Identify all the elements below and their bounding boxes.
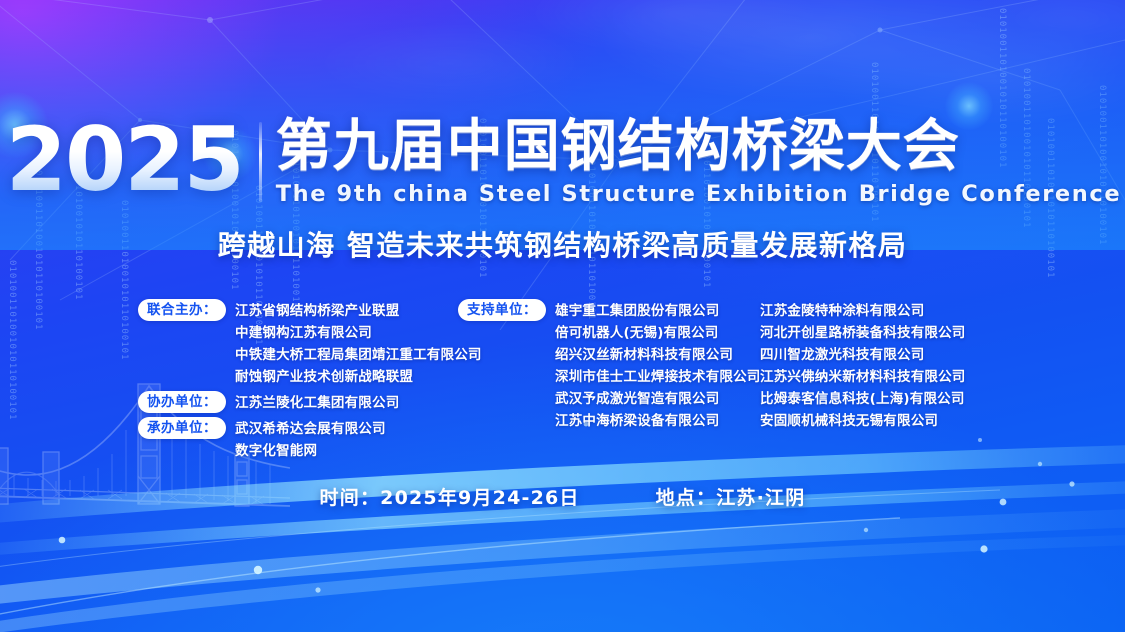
list-item: 安固顺机械科技无锡有限公司	[758, 410, 993, 432]
list-item: 江苏金陵特种涂料有限公司	[758, 300, 993, 322]
event-meta: 时间：2025年9月24-26日 地点：江苏·江阴	[0, 483, 1125, 510]
organizer-group: 协办单位： 江苏兰陵化工集团有限公司	[138, 391, 458, 414]
label-co-organizer: 协办单位：	[138, 391, 226, 413]
list-item: 中铁建大桥工程局集团靖江重工有限公司	[235, 344, 482, 366]
label-undertaker: 承办单位：	[138, 417, 226, 439]
year-2025: 2025	[4, 118, 245, 202]
page-title: 第九届中国钢结构桥梁大会	[276, 118, 1122, 176]
event-location: 地点：江苏·江阴	[656, 483, 806, 510]
title-divider	[259, 122, 262, 202]
list-item: 中建钢构江苏有限公司	[235, 322, 482, 344]
list-item: 江苏省钢结构桥梁产业联盟	[235, 300, 482, 322]
list-item: 江苏兰陵化工集团有限公司	[235, 392, 399, 414]
organizer-list: 武汉希希达会展有限公司 数字化智能网	[235, 417, 386, 462]
event-date: 时间：2025年9月24-26日	[320, 483, 580, 510]
list-item: 绍兴汉丝新材料科技有限公司	[555, 344, 761, 366]
organizer-group: 联合主办： 江苏省钢结构桥梁产业联盟 中建钢构江苏有限公司 中铁建大桥工程局集团…	[138, 299, 458, 388]
list-item: 武汉希希达会展有限公司	[235, 418, 386, 440]
label-supporter: 支持单位：	[458, 299, 546, 321]
list-item: 四川智龙激光科技有限公司	[758, 344, 993, 366]
organizer-list: 雄宇重工集团股份有限公司 倍可机器人(无锡)有限公司 绍兴汉丝新材料科技有限公司…	[555, 299, 761, 432]
list-item: 江苏兴佛纳米新材料科技有限公司	[758, 366, 993, 388]
organizer-list: 江苏金陵特种涂料有限公司 河北开创星路桥装备科技有限公司 四川智龙激光科技有限公…	[758, 299, 993, 432]
organizers-section: 联合主办： 江苏省钢结构桥梁产业联盟 中建钢构江苏有限公司 中铁建大桥工程局集团…	[0, 299, 1125, 465]
organizer-column-middle: 支持单位： 雄宇重工集团股份有限公司 倍可机器人(无锡)有限公司 绍兴汉丝新材料…	[458, 299, 758, 465]
list-item: 数字化智能网	[235, 440, 386, 462]
organizer-list: 江苏兰陵化工集团有限公司	[235, 391, 399, 414]
list-item: 比姆泰客信息科技(上海)有限公司	[758, 388, 993, 410]
organizer-list: 江苏省钢结构桥梁产业联盟 中建钢构江苏有限公司 中铁建大桥工程局集团靖江重工有限…	[235, 299, 482, 388]
page-subtitle-en: The 9th china Steel Structure Exhibition…	[276, 181, 1122, 207]
list-item: 深圳市佳士工业焊接技术有限公司	[555, 366, 761, 388]
list-item: 耐蚀钢产业技术创新战略联盟	[235, 366, 482, 388]
organizer-column-left: 联合主办： 江苏省钢结构桥梁产业联盟 中建钢构江苏有限公司 中铁建大桥工程局集团…	[132, 299, 458, 465]
organizer-column-right: 江苏金陵特种涂料有限公司 河北开创星路桥装备科技有限公司 四川智龙激光科技有限公…	[758, 299, 993, 465]
conference-banner: 0101001101001010110100101 01010011010010…	[0, 0, 1125, 632]
title-stack: 第九届中国钢结构桥梁大会 The 9th china Steel Structu…	[276, 118, 1122, 207]
organizer-group: 支持单位： 雄宇重工集团股份有限公司 倍可机器人(无锡)有限公司 绍兴汉丝新材料…	[458, 299, 758, 432]
list-item: 江苏中海桥梁设备有限公司	[555, 410, 761, 432]
list-item: 雄宇重工集团股份有限公司	[555, 300, 761, 322]
list-item: 倍可机器人(无锡)有限公司	[555, 322, 761, 344]
slogan: 跨越山海 智造未来共筑钢结构桥梁高质量发展新格局	[218, 224, 908, 264]
label-co-host: 联合主办：	[138, 299, 226, 321]
list-item: 河北开创星路桥装备科技有限公司	[758, 322, 993, 344]
header-block: 2025 第九届中国钢结构桥梁大会 The 9th china Steel St…	[0, 118, 1125, 264]
list-item: 武汉予成激光智造有限公司	[555, 388, 761, 410]
title-row: 2025 第九届中国钢结构桥梁大会 The 9th china Steel St…	[4, 118, 1121, 207]
binary-column: 0101001101001010110100101	[996, 8, 1007, 128]
organizer-group: 承办单位： 武汉希希达会展有限公司 数字化智能网	[138, 417, 458, 462]
